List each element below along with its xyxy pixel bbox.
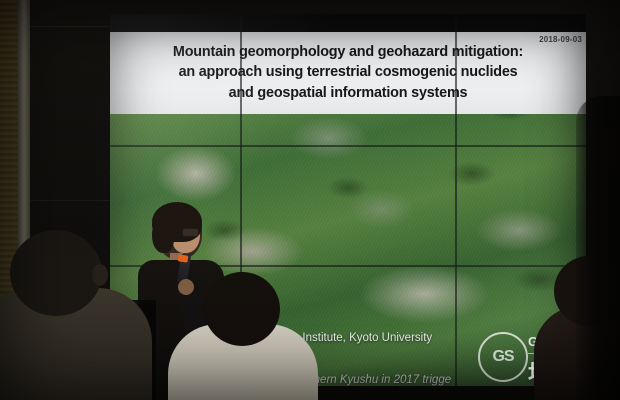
audience-member-center [168, 272, 318, 400]
audience-left-ear [92, 264, 108, 286]
audience-left-head [10, 230, 102, 316]
audience-member-left [0, 230, 152, 400]
slide-title-line-3: and geospatial information systems [229, 84, 468, 103]
slide-title: Mountain geomorphology and geohazard mit… [110, 32, 586, 114]
audience-center-head [204, 272, 280, 346]
presenter-hair-side [152, 219, 174, 253]
video-wall-bezel-horizontal-1 [110, 145, 586, 147]
display-timestamp: 2018-09-03 [539, 35, 582, 44]
slide-title-line-1: Mountain geomorphology and geohazard mit… [173, 43, 523, 62]
foreground-figure-right-edge [576, 96, 620, 400]
microphone-accent-band [178, 254, 189, 262]
video-wall-bezel-vertical-2 [455, 14, 457, 386]
presenter-glasses [182, 228, 199, 237]
wall-seam-lower [30, 200, 110, 201]
wall-seam-upper [30, 26, 110, 27]
screenshot-stage: Mountain geomorphology and geohazard mit… [0, 0, 620, 400]
slide-title-line-2: an approach using terrestrial cosmogenic… [179, 63, 518, 82]
